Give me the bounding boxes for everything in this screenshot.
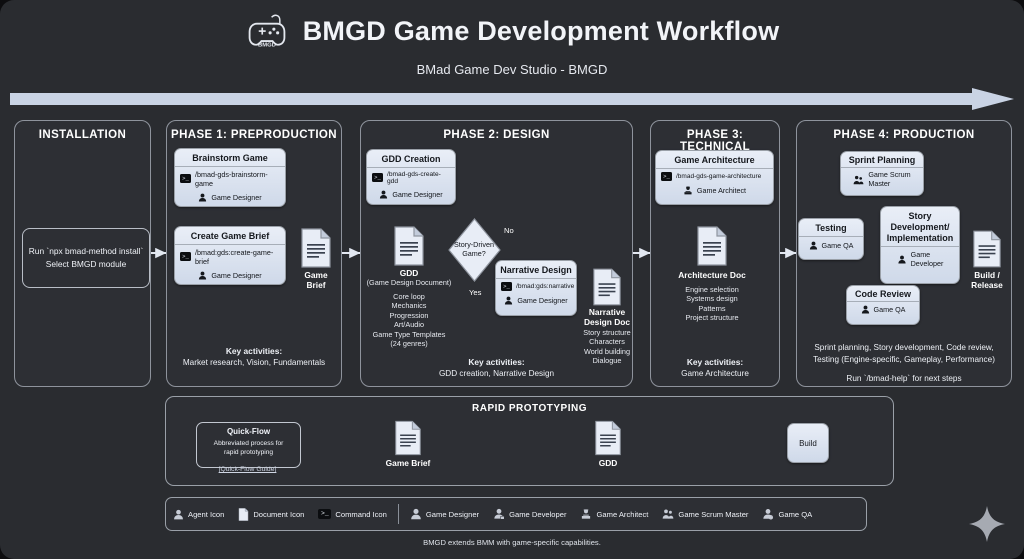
legend-label-game-scrum-master: Game Scrum Master	[678, 510, 748, 519]
document-icon-game-brief	[300, 228, 332, 268]
rapid-prototyping-title: RAPID PROTOTYPING	[166, 403, 893, 414]
architecture-doc-details: Engine selection Systems design Patterns…	[652, 285, 772, 323]
game-architect-icon	[580, 508, 592, 520]
brainstorm-title: Brainstorm Game	[175, 149, 285, 166]
story-dev-title-l3: Implementation	[887, 233, 954, 243]
phase3-key-text: Game Architecture	[681, 369, 749, 378]
quick-flow-l1: Abbreviated process for	[214, 440, 284, 447]
story-dev-title-l1: Story	[908, 211, 931, 221]
phase4-summary-l1: Sprint planning, Story development, Code…	[814, 343, 993, 352]
phase1-key-text: Market research, Vision, Fundamentals	[183, 358, 325, 367]
game-developer-icon	[897, 255, 907, 264]
card-sprint-planning[interactable]: Sprint Planning Game Scrum Master	[840, 151, 924, 196]
architecture-agent: Game Architect	[697, 186, 746, 195]
narrative-agent: Game Designer	[517, 296, 567, 305]
agent-icon	[379, 190, 388, 199]
document-icon-build-release	[972, 230, 1002, 268]
rapid-step-gdd-label: GDD	[568, 458, 648, 468]
edge-label-yes: Yes	[469, 288, 481, 297]
narrative-doc-label-l1: Narrative	[589, 307, 625, 317]
game-developer-icon	[493, 508, 505, 520]
install-module-line: Select BMGD module	[46, 258, 127, 271]
legend-item-document-icon: Document Icon	[231, 508, 311, 521]
panel-title-phase-2: PHASE 2: DESIGN	[361, 129, 632, 141]
edge-label-no: No	[504, 226, 514, 235]
agent-icon	[504, 296, 513, 305]
create-brief-title: Create Game Brief	[175, 227, 285, 244]
progress-arrow	[10, 88, 1014, 110]
card-narrative-design[interactable]: Narrative Design >_ /bmad:gds:narrative …	[495, 260, 577, 316]
card-game-architecture[interactable]: Game Architecture >_ /bmad-gds-game-arch…	[655, 150, 774, 205]
card-brainstorm-game[interactable]: Brainstorm Game >_ /bmad-gds-brainstorm-…	[174, 148, 286, 207]
code-review-agent: Game QA	[874, 305, 906, 314]
decision-text-l1: Story-Driven	[454, 240, 494, 249]
legend-divider	[398, 504, 399, 524]
phase1-key-label: Key activities:	[226, 346, 282, 356]
panel-title-phase-4: PHASE 4: PRODUCTION	[797, 129, 1011, 141]
panel-title-phase-1: PHASE 1: PREPRODUCTION	[167, 129, 341, 141]
workflow-diagram: BMGD BMGD Game Development Workflow BMad…	[0, 0, 1024, 559]
game-qa-icon	[861, 305, 870, 314]
decision-text-l2: Game?	[462, 249, 486, 258]
panel-title-installation: INSTALLATION	[15, 129, 150, 141]
phase3-key-label: Key activities:	[687, 357, 743, 367]
game-architect-icon	[683, 186, 693, 195]
document-icon	[238, 508, 249, 521]
legend-label-agent: Agent Icon	[188, 510, 224, 519]
legend-item-game-architect: Game Architect	[573, 508, 655, 520]
quick-flow-box: Quick-Flow Abbreviated process for rapid…	[196, 422, 301, 468]
command-icon: >_	[318, 509, 331, 519]
page-title: BMGD Game Development Workflow	[303, 16, 780, 47]
code-review-title: Code Review	[847, 286, 919, 301]
command-icon: >_	[372, 173, 383, 182]
sprint-planning-title: Sprint Planning	[841, 152, 923, 167]
narrative-command: /bmad:gds:narrative	[516, 283, 574, 290]
game-qa-icon	[809, 241, 818, 250]
legend-label-game-qa: Game QA	[778, 510, 812, 519]
architecture-title: Game Architecture	[656, 151, 773, 168]
narrative-title: Narrative Design	[496, 261, 576, 278]
logo-text: BMGD	[258, 43, 276, 49]
legend-label-document: Document Icon	[253, 510, 304, 519]
footer-text: BMGD extends BMM with game-specific capa…	[0, 538, 1024, 547]
game-designer-icon	[410, 508, 422, 520]
header: BMGD BMGD Game Development Workflow BMad…	[0, 0, 1024, 80]
command-icon: >_	[501, 282, 512, 291]
legend-item-command-icon: >_ Command Icon	[311, 509, 394, 519]
sprint-planning-agent-l2: Master	[868, 179, 890, 188]
legend-label-game-architect: Game Architect	[596, 510, 648, 519]
command-icon: >_	[661, 172, 672, 181]
gdd-creation-agent: Game Designer	[392, 190, 442, 199]
brainstorm-agent: Game Designer	[211, 193, 261, 202]
architecture-command: /bmad-gds-game-architecture	[676, 173, 761, 180]
game-scrum-master-icon	[662, 508, 674, 520]
installation-instructions-box: Run `npx bmad-method install` Select BMG…	[22, 228, 150, 288]
quick-flow-l2: rapid prototyping	[224, 449, 273, 456]
card-rapid-build[interactable]: Build	[787, 423, 829, 463]
build-release-label-l1: Build /	[974, 270, 1000, 280]
legend-label-game-designer: Game Designer	[426, 510, 479, 519]
document-icon-narrative	[592, 268, 622, 306]
legend: Agent Icon Document Icon >_ Command Icon…	[165, 497, 867, 531]
build-release-label-l2: Release	[971, 280, 1003, 290]
narrative-doc-label-l2: Design Doc	[584, 317, 630, 327]
phase2-key-text: GDD creation, Narrative Design	[439, 369, 554, 378]
agent-icon	[198, 271, 207, 280]
document-icon-rapid-game-brief	[394, 420, 422, 456]
document-icon-rapid-gdd	[594, 420, 622, 456]
gamepad-logo-icon: BMGD	[245, 9, 289, 53]
command-icon: >_	[180, 174, 191, 183]
game-qa-icon	[762, 508, 774, 520]
rapid-step-game-brief-label: Game Brief	[368, 458, 448, 468]
legend-item-game-designer: Game Designer	[403, 508, 486, 520]
narrative-doc-details: Story structure Characters World buildin…	[547, 328, 667, 366]
agent-icon	[173, 509, 184, 520]
legend-item-agent-icon: Agent Icon	[166, 509, 231, 520]
legend-item-game-qa: Game QA	[755, 508, 819, 520]
legend-label-command: Command Icon	[335, 510, 387, 519]
document-icon-gdd	[393, 226, 425, 266]
quick-flow-guide-link[interactable]: [Quick-Flow Guide]	[196, 466, 299, 473]
quick-flow-title: Quick-Flow	[197, 427, 300, 437]
legend-item-game-scrum-master: Game Scrum Master	[655, 508, 755, 520]
legend-item-game-developer: Game Developer	[486, 508, 573, 520]
game-brief-label-l2: Brief	[306, 280, 325, 290]
brainstorm-command: /bmad-gds-brainstorm-game	[195, 170, 280, 188]
install-command-line: Run `npx bmad-method install`	[29, 245, 144, 258]
phase2-key-label: Key activities:	[468, 357, 524, 367]
create-brief-command: /bmad:gds:create-game-brief	[195, 248, 280, 266]
card-gdd-creation[interactable]: GDD Creation >_ /bmad-gds-create-gdd Gam…	[366, 149, 456, 205]
create-brief-agent: Game Designer	[211, 271, 261, 280]
command-icon: >_	[180, 252, 191, 261]
gdd-creation-command: /bmad-gds-create-gdd	[387, 171, 450, 185]
page-subtitle: BMad Game Dev Studio - BMGD	[0, 62, 1024, 77]
architecture-doc-label: Architecture Doc	[672, 270, 752, 280]
game-brief-label-l1: Game	[304, 270, 327, 280]
gdd-doc-details: Core loop Mechanics Progression Art/Audi…	[349, 292, 469, 348]
card-code-review[interactable]: Code Review Game QA	[846, 285, 920, 325]
legend-label-game-developer: Game Developer	[509, 510, 566, 519]
rapid-step-build-label: Build	[799, 439, 817, 448]
gdd-creation-title: GDD Creation	[367, 150, 455, 167]
story-dev-title-l2: Development/	[890, 222, 949, 232]
testing-title: Testing	[799, 219, 863, 236]
testing-agent: Game QA	[822, 241, 854, 250]
document-icon-architecture	[696, 226, 728, 266]
gdd-doc-label: GDD	[369, 268, 449, 278]
phase4-summary-l3: Run `/bmad-help` for next steps	[846, 374, 961, 383]
phase4-summary-l2: Testing (Engine-specific, Gameplay, Perf…	[813, 355, 995, 364]
story-dev-agent-l2: Developer	[911, 259, 944, 268]
game-scrum-master-icon	[853, 175, 864, 185]
agent-icon	[198, 193, 207, 202]
card-testing[interactable]: Testing Game QA	[798, 218, 864, 260]
card-create-game-brief[interactable]: Create Game Brief >_ /bmad:gds:create-ga…	[174, 226, 286, 285]
